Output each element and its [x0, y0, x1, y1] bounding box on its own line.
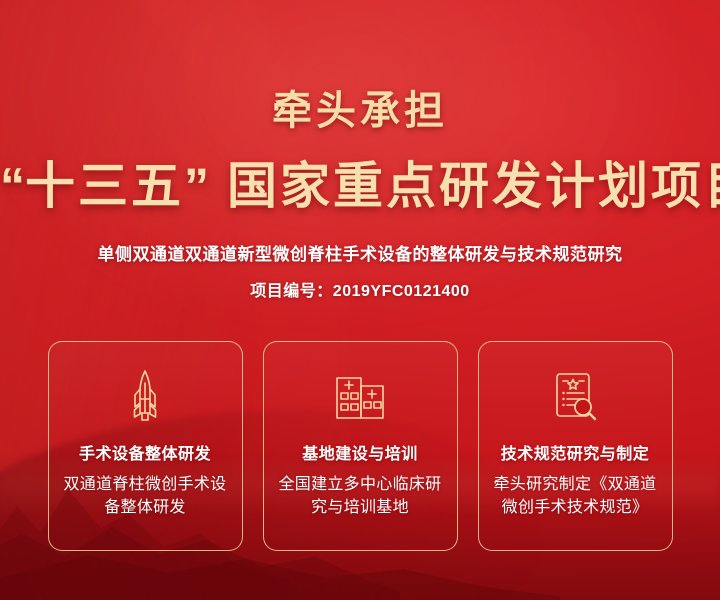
document-search-icon	[550, 368, 600, 424]
card-tech-standard[interactable]: 技术规范研究与制定 牵头研究制定《双通道微创手术技术规范》	[478, 341, 673, 551]
card-base-training[interactable]: 基地建设与培训 全国建立多中心临床研究与培训基地	[263, 341, 458, 551]
title-main: “十三五”国家重点研发计划项目	[0, 146, 720, 218]
title-quote-open: “	[0, 158, 25, 214]
project-number: 项目编号：2019YFC0121400	[0, 277, 720, 301]
subtitle: 单侧双通道双通道新型微创脊柱手术设备的整体研发与技术规范研究	[0, 240, 720, 265]
card-title: 技术规范研究与制定	[501, 440, 650, 464]
card-desc: 全国建立多中心临床研究与培训基地	[264, 474, 457, 519]
title-quote-close: ”	[184, 158, 209, 214]
title-lead: 牵头承担	[0, 78, 720, 136]
card-desc: 双通道脊柱微创手术设备整体研发	[49, 474, 242, 519]
rocket-icon	[125, 368, 165, 424]
headline-block: 牵头承担 “十三五”国家重点研发计划项目 单侧双通道双通道新型微创脊柱手术设备的…	[0, 78, 720, 301]
card-title: 手术设备整体研发	[79, 440, 211, 464]
card-desc: 牵头研究制定《双通道微创手术技术规范》	[479, 474, 672, 519]
title-plan: 十三五	[25, 158, 184, 214]
hospital-icon	[333, 368, 387, 424]
title-rest: 国家重点研发计划项目	[227, 158, 720, 214]
card-equipment-rnd[interactable]: 手术设备整体研发 双通道脊柱微创手术设备整体研发	[48, 341, 243, 551]
cards-row: 手术设备整体研发 双通道脊柱微创手术设备整体研发	[0, 341, 720, 551]
poster-root: 牵头承担 “十三五”国家重点研发计划项目 单侧双通道双通道新型微创脊柱手术设备的…	[0, 0, 720, 600]
card-title: 基地建设与培训	[302, 440, 418, 464]
